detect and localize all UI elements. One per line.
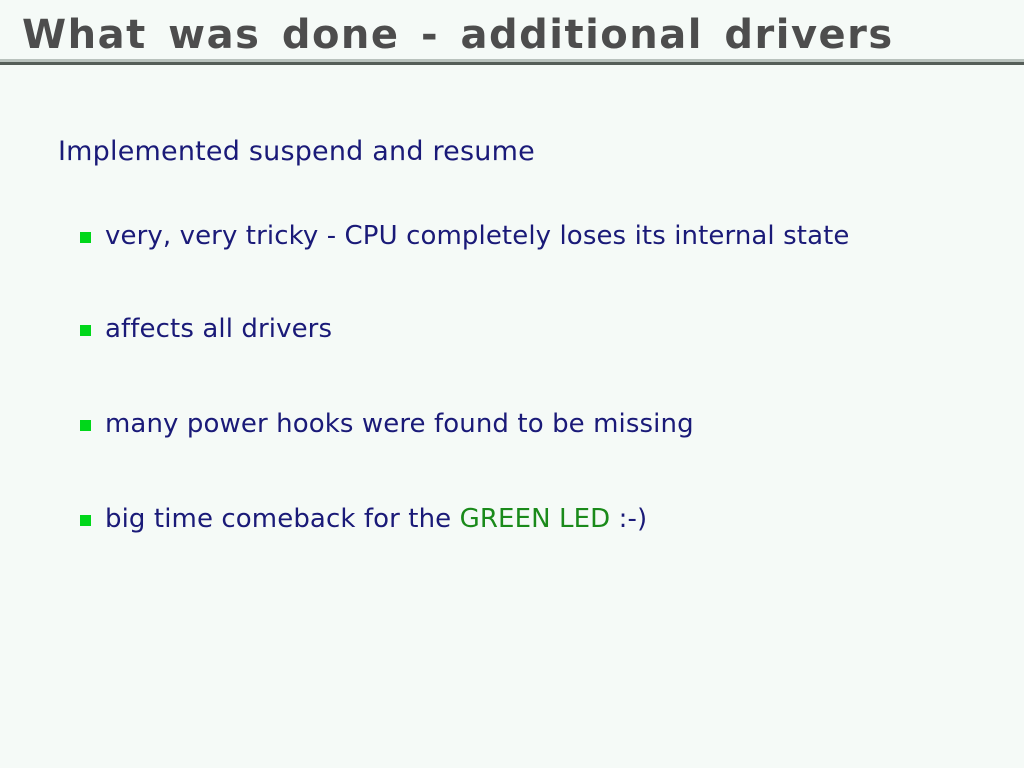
slide-body: Implemented suspend and resume very, ver…: [0, 0, 1024, 768]
square-bullet-icon: [80, 232, 91, 243]
list-item: big time comeback for the GREEN LED :-): [0, 501, 1024, 541]
list-item: many power hooks were found to be missin…: [0, 406, 1024, 446]
list-item-label: big time comeback for the GREEN LED :-): [105, 501, 925, 538]
list-item-highlight: GREEN LED: [460, 504, 611, 534]
presentation-slide: What was done - additional drivers Imple…: [0, 0, 1024, 768]
square-bullet-icon: [80, 325, 91, 336]
list-item-label: affects all drivers: [105, 311, 925, 348]
list-item-text-suffix: :-): [610, 504, 647, 534]
list-item: affects all drivers: [0, 311, 1024, 351]
square-bullet-icon: [80, 420, 91, 431]
list-item-label: very, very tricky - CPU completely loses…: [105, 218, 925, 255]
list-item-label: many power hooks were found to be missin…: [105, 406, 925, 443]
list-item: very, very tricky - CPU completely loses…: [0, 218, 1024, 258]
lead-statement: Implemented suspend and resume: [58, 135, 535, 169]
bullet-list: very, very tricky - CPU completely loses…: [0, 218, 1024, 541]
square-bullet-icon: [80, 515, 91, 526]
list-item-text-prefix: big time comeback for the: [105, 504, 460, 534]
